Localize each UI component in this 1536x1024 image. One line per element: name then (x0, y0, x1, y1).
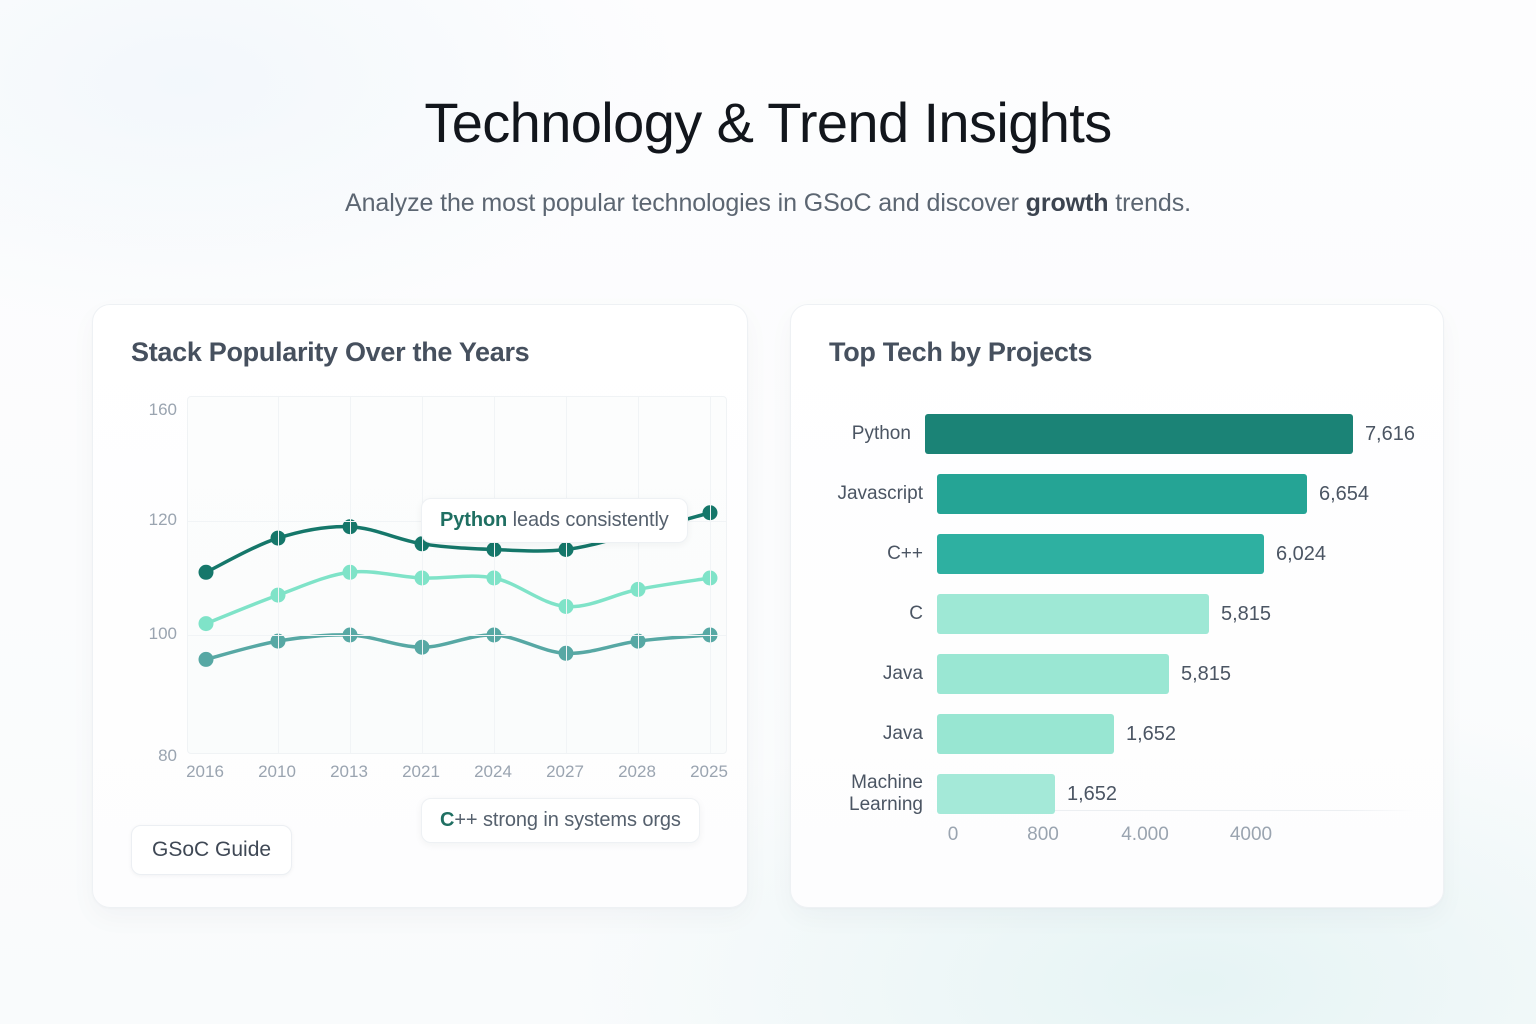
bar[interactable] (937, 474, 1307, 514)
page-title: Technology & Trend Insights (0, 92, 1536, 155)
bar-category-label: Java (829, 663, 937, 685)
bar-axis-tick: 4000 (1230, 824, 1272, 846)
bar-axis-tick: 800 (1027, 824, 1059, 846)
card-title-stack-popularity: Stack Popularity Over the Years (131, 337, 717, 368)
bar-track: 1,652 (937, 772, 1415, 816)
bar-category-label: Javascript (829, 483, 937, 505)
y-axis-tick: 100 (149, 624, 177, 644)
y-axis-tick: 80 (158, 746, 177, 766)
gsoc-guide-button[interactable]: GSoC Guide (131, 825, 292, 875)
card-stack-popularity: Stack Popularity Over the Years 16012010… (92, 304, 748, 908)
gridline-vertical (494, 397, 495, 753)
bar-row[interactable]: Java5,815 (829, 652, 1415, 696)
gridline-vertical (278, 397, 279, 753)
annotation-python-leads: Python leads consistently (421, 498, 688, 543)
bar[interactable] (937, 654, 1169, 694)
bar-value-label: 5,815 (1221, 603, 1271, 626)
subtitle-accent-growth: growth (1026, 189, 1109, 217)
gridline-vertical (422, 397, 423, 753)
gridline-vertical (638, 397, 639, 753)
data-point[interactable] (199, 652, 214, 667)
bar-row[interactable]: C++6,024 (829, 532, 1415, 576)
data-point[interactable] (199, 616, 214, 631)
bar-value-label: 6,024 (1276, 543, 1326, 566)
page-subtitle: Analyze the most popular technologies in… (0, 189, 1536, 218)
bar[interactable] (937, 534, 1264, 574)
x-axis-tick: 2016 (186, 762, 224, 782)
bar-category-label: C (829, 603, 937, 625)
bar-row[interactable]: Javascript6,654 (829, 472, 1415, 516)
line-chart-plot-area (187, 396, 727, 754)
annotation-python-rest: leads consistently (507, 509, 669, 531)
annotation-python-bold: Python (440, 509, 507, 531)
bar-row[interactable]: Python7,616 (829, 412, 1415, 456)
subtitle-text-after: trends. (1108, 189, 1191, 217)
bar[interactable] (937, 714, 1114, 754)
card-top-tech: Top Tech by Projects 08004.0004000 Pytho… (790, 304, 1444, 908)
bar-chart-x-axis: 08004.0004000 (945, 824, 1415, 852)
annotation-cpp-bold: C (440, 809, 454, 831)
bar-track: 1,652 (937, 712, 1415, 756)
bar-chart: 08004.0004000 Python7,616Javascript6,654… (829, 412, 1415, 862)
subtitle-text-before: Analyze the most popular technologies in… (345, 189, 1026, 217)
bar-category-label: Machine Learning (829, 772, 937, 817)
bar[interactable] (937, 774, 1055, 814)
annotation-cpp-strong: C++ strong in systems orgs (421, 798, 700, 843)
page-root: Technology & Trend Insights Analyze the … (0, 0, 1536, 1024)
bar-category-label: Python (829, 423, 925, 445)
x-axis-tick: 2010 (258, 762, 296, 782)
bar-value-label: 5,815 (1181, 663, 1231, 686)
bar-track: 6,654 (937, 472, 1415, 516)
bar-row[interactable]: C5,815 (829, 592, 1415, 636)
x-axis-tick: 2027 (546, 762, 584, 782)
line-chart-x-axis: 20162010201320212024202720282025 (187, 762, 727, 792)
x-axis-tick: 2021 (402, 762, 440, 782)
line-chart-svg (188, 397, 727, 754)
bar-track: 5,815 (937, 652, 1415, 696)
bar[interactable] (925, 414, 1353, 454)
x-axis-tick: 2013 (330, 762, 368, 782)
bar[interactable] (937, 594, 1209, 634)
gridline-vertical (350, 397, 351, 753)
bar-value-label: 6,654 (1319, 483, 1369, 506)
bar-row[interactable]: Java1,652 (829, 712, 1415, 756)
bar-track: 7,616 (925, 412, 1415, 456)
bar-category-label: Java (829, 723, 937, 745)
gridline-vertical (566, 397, 567, 753)
y-axis-tick: 120 (149, 510, 177, 530)
gridline-horizontal (188, 635, 726, 636)
bar-category-label: C++ (829, 543, 937, 565)
gridline-vertical (710, 397, 711, 753)
data-point[interactable] (199, 565, 214, 580)
y-axis-tick: 160 (149, 400, 177, 420)
cards-row: Stack Popularity Over the Years 16012010… (92, 304, 1444, 908)
bar-axis-tick: 4.000 (1121, 824, 1169, 846)
bar-track: 6,024 (937, 532, 1415, 576)
bar-track: 5,815 (937, 592, 1415, 636)
x-axis-tick: 2028 (618, 762, 656, 782)
x-axis-tick: 2025 (690, 762, 728, 782)
line-chart: 16012010080 2016201020132021202420272028… (131, 396, 727, 796)
bar-axis-tick: 0 (948, 824, 959, 846)
bar-row[interactable]: Machine Learning1,652 (829, 772, 1415, 816)
line-chart-y-axis: 16012010080 (131, 396, 177, 756)
annotation-cpp-rest: ++ strong in systems orgs (454, 809, 681, 831)
card-title-top-tech: Top Tech by Projects (829, 337, 1409, 368)
bar-value-label: 1,652 (1126, 723, 1176, 746)
page-header: Technology & Trend Insights Analyze the … (0, 0, 1536, 218)
bar-value-label: 7,616 (1365, 423, 1415, 446)
bar-value-label: 1,652 (1067, 783, 1117, 806)
x-axis-tick: 2024 (474, 762, 512, 782)
